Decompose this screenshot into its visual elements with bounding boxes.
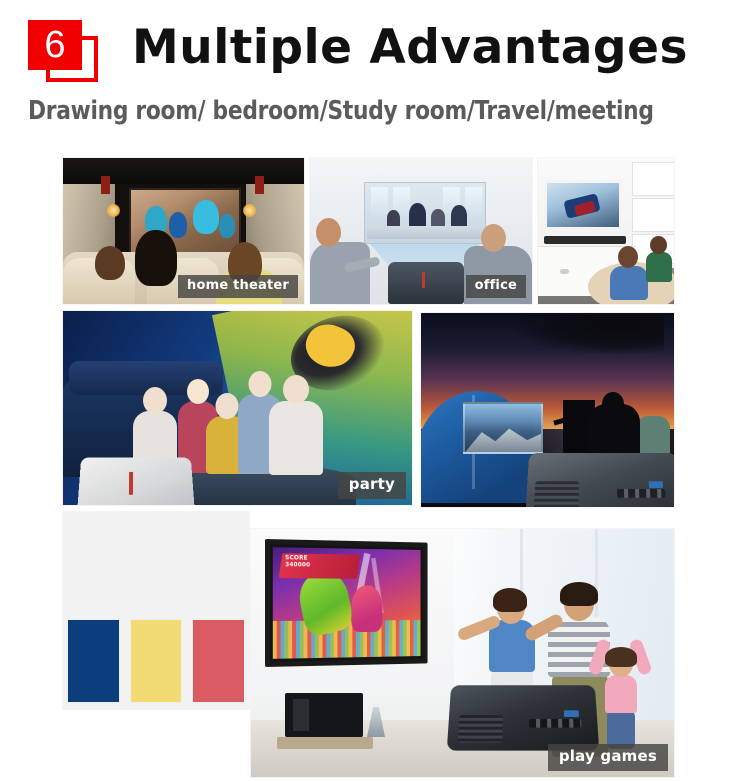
projected-mountain-landscape [465,423,541,452]
theater-speaker-right [255,176,264,194]
game-image: SCORE 340000 [273,547,421,659]
movie-bird-3 [193,200,219,234]
play-games-scene: SCORE 340000 [251,529,674,777]
office-person-left [310,212,372,304]
cabinet-knob-1 [560,269,569,274]
panel-color-swatches [62,511,250,710]
theater-speaker-left [101,176,110,194]
projector-usb-port [564,710,579,717]
badge-number-text: 6 [28,20,82,70]
color-swatch-navy-blue [67,619,120,703]
panel-caption-party: party [338,472,406,499]
office-meeting-person-2 [409,203,426,227]
image-collage: home theater [0,145,750,781]
office-person-left-head [316,218,341,247]
woman-hair [493,588,527,612]
party-projector-device [77,457,196,506]
theater-viewer-head-1 [95,246,125,280]
color-swatch-coral-red [192,619,245,703]
living-room-scene [538,158,674,304]
child-hair [605,647,637,667]
living-room-screen [544,180,622,230]
office-person-right-head [481,224,506,252]
games-player-child [591,639,649,747]
projector-port-row [529,719,582,728]
panel-play-games: SCORE 340000 [250,528,675,778]
games-media-stand [277,737,373,749]
movie-bird-4 [219,214,235,238]
panel-caption-home-theater: home theater [178,275,298,298]
panel-camping [420,312,675,508]
living-soundbar [544,236,626,244]
child-torso [605,675,637,713]
projector-port-row [617,489,665,498]
color-swatch-yellow [130,619,183,703]
living-child-2-head [650,236,667,254]
page-subtitle: Drawing room/ bedroom/Study room/Travel/… [28,96,654,126]
panel-caption-office: office [466,275,526,298]
silhouette-sitting-head [602,392,624,416]
theater-ceiling [63,158,304,184]
tent-projected-image [463,402,543,454]
party-person-5-head [283,375,309,404]
game-score-value: 340000 [285,562,310,570]
games-speaker-cabinet [285,693,363,737]
office-meeting-person-3 [431,209,445,227]
projector-usb-port [649,481,663,488]
living-child-2-body [646,252,672,282]
games-projection-screen: SCORE 340000 [265,539,428,667]
game-character-pink [352,586,383,633]
living-child-1 [610,246,650,298]
theater-viewer-head-2 [135,230,177,286]
man-hair [560,582,598,606]
office-meeting-person-1 [387,210,400,227]
living-shelf-2 [632,198,675,232]
camping-tree-branch [514,315,664,355]
page-header: 6 Multiple Advantages Drawing room/ bedr… [0,0,750,145]
panel-party: party [62,310,413,506]
panel-caption-play-games: play games [548,744,668,771]
panel-living-room [537,157,675,305]
office-projector-device [388,262,464,304]
theater-wall-lamp-right [243,204,256,217]
party-person-4-head [248,371,271,397]
living-shelf-1 [632,162,675,196]
living-child-2 [646,236,672,280]
office-window-1 [371,187,388,221]
camping-scene [421,313,674,507]
party-person-5 [269,375,323,471]
party-person-1-head [143,387,167,414]
page-title: Multiple Advantages [132,20,688,75]
party-person-5-body [269,401,323,475]
theater-wall-lamp-left [107,204,120,217]
living-child-1-head [618,246,638,268]
living-child-1-body [610,266,648,300]
camping-projector-device [525,453,675,508]
games-projector-device [447,685,599,750]
projector-vent-grille [458,715,504,742]
game-score-text: SCORE 340000 [285,554,310,569]
movie-bird-2 [169,212,187,238]
projector-vent-grille [534,481,580,508]
panel-home-theater: home theater [62,157,305,305]
office-window-4 [465,187,482,221]
party-person-3-head [216,393,239,419]
panel-office: office [309,157,533,305]
swatch-row [63,619,249,709]
section-number-badge: 6 [28,20,98,82]
office-person-left-body [310,242,370,304]
